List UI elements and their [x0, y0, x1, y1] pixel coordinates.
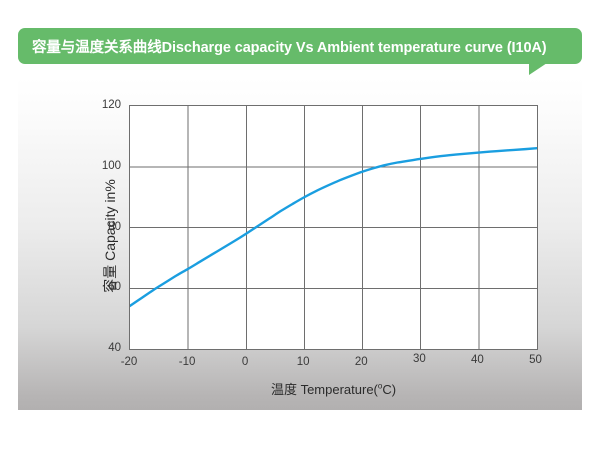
- x-tick-label-50: 50: [529, 354, 542, 366]
- chart-title-banner: 容量与温度关系曲线Discharge capacity Vs Ambient t…: [18, 28, 582, 64]
- x-axis-title-unit: C): [382, 382, 396, 397]
- x-tick-label-20: 20: [355, 356, 368, 368]
- title-banner-tail: [529, 63, 547, 75]
- chart-panel: 容量 Capacity in% 120 100 80 60 40 -20 -10…: [18, 78, 582, 410]
- y-tick-label-100: 100: [73, 160, 121, 172]
- x-tick-label-minus10: -10: [179, 356, 196, 368]
- x-tick-label-10: 10: [297, 356, 310, 368]
- chart-title: 容量与温度关系曲线Discharge capacity Vs Ambient t…: [32, 36, 547, 57]
- y-tick-label-80: 80: [73, 221, 121, 233]
- plot-area: [129, 105, 538, 350]
- gridlines: [130, 106, 537, 349]
- y-tick-label-60: 60: [73, 281, 121, 293]
- plot-svg: [130, 106, 537, 349]
- x-tick-label-0: 0: [242, 356, 248, 368]
- y-tick-label-120: 120: [73, 99, 121, 111]
- x-tick-label-40: 40: [471, 354, 484, 366]
- x-axis-title-main: 温度 Temperature(: [271, 382, 378, 397]
- x-tick-label-minus20: -20: [121, 356, 138, 368]
- y-tick-label-40: 40: [73, 342, 121, 354]
- x-axis-title: 温度 Temperature(oC): [129, 379, 538, 398]
- x-tick-label-30: 30: [413, 353, 426, 365]
